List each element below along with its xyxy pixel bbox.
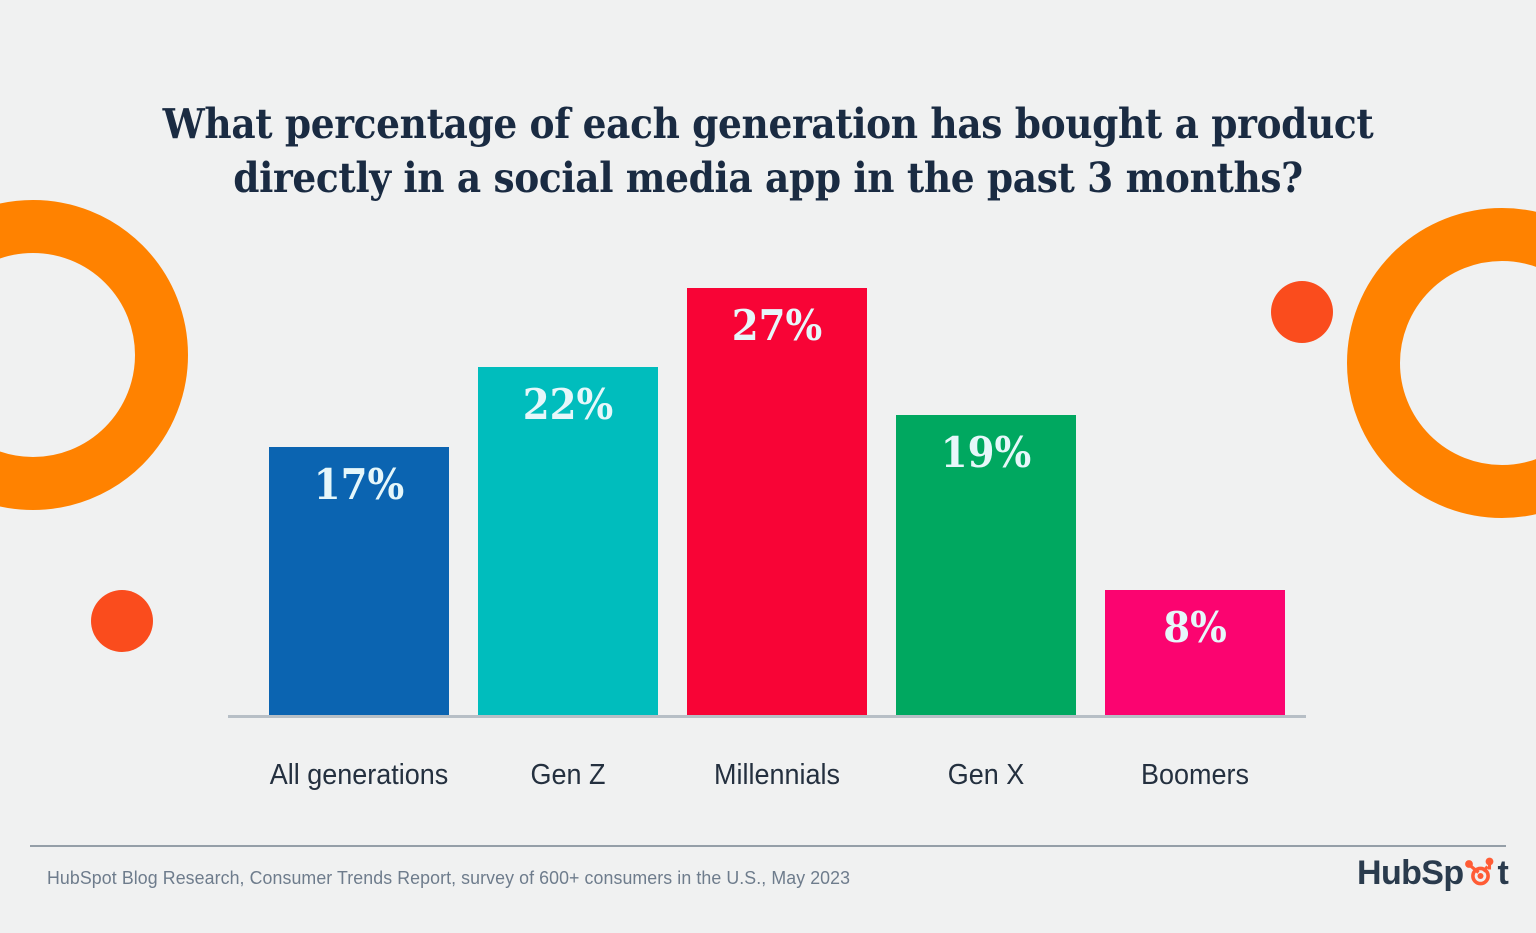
- bar-chart: 17%22%27%19%8% All generationsGen ZMille…: [0, 0, 1536, 933]
- bar-value-label: 8%: [1112, 604, 1278, 652]
- bar[interactable]: 8%: [1105, 590, 1285, 717]
- bar-value-label: 17%: [276, 461, 442, 509]
- hubspot-logo[interactable]: HubSp t: [1357, 852, 1508, 894]
- category-label: Gen X: [874, 757, 1097, 793]
- bar-value-label: 27%: [694, 302, 860, 350]
- hubspot-logo-text-after: t: [1498, 856, 1509, 890]
- category-label: Millennials: [665, 757, 888, 793]
- bar[interactable]: 22%: [478, 367, 658, 717]
- bar[interactable]: 17%: [269, 447, 449, 717]
- hubspot-sprocket-icon: [1464, 854, 1498, 893]
- bar-value-label: 22%: [485, 381, 651, 429]
- hubspot-logo-text-before: HubSp: [1357, 856, 1464, 890]
- bar-value-label: 19%: [903, 429, 1069, 477]
- category-label: Gen Z: [456, 757, 679, 793]
- category-label: All generations: [247, 757, 470, 793]
- category-label: Boomers: [1083, 757, 1306, 793]
- bar[interactable]: 27%: [687, 288, 867, 717]
- axis-baseline: [228, 715, 1306, 718]
- footer-divider: [30, 845, 1506, 847]
- source-citation: HubSpot Blog Research, Consumer Trends R…: [47, 866, 850, 890]
- bar[interactable]: 19%: [896, 415, 1076, 717]
- plot-area: 17%22%27%19%8%: [228, 240, 1308, 717]
